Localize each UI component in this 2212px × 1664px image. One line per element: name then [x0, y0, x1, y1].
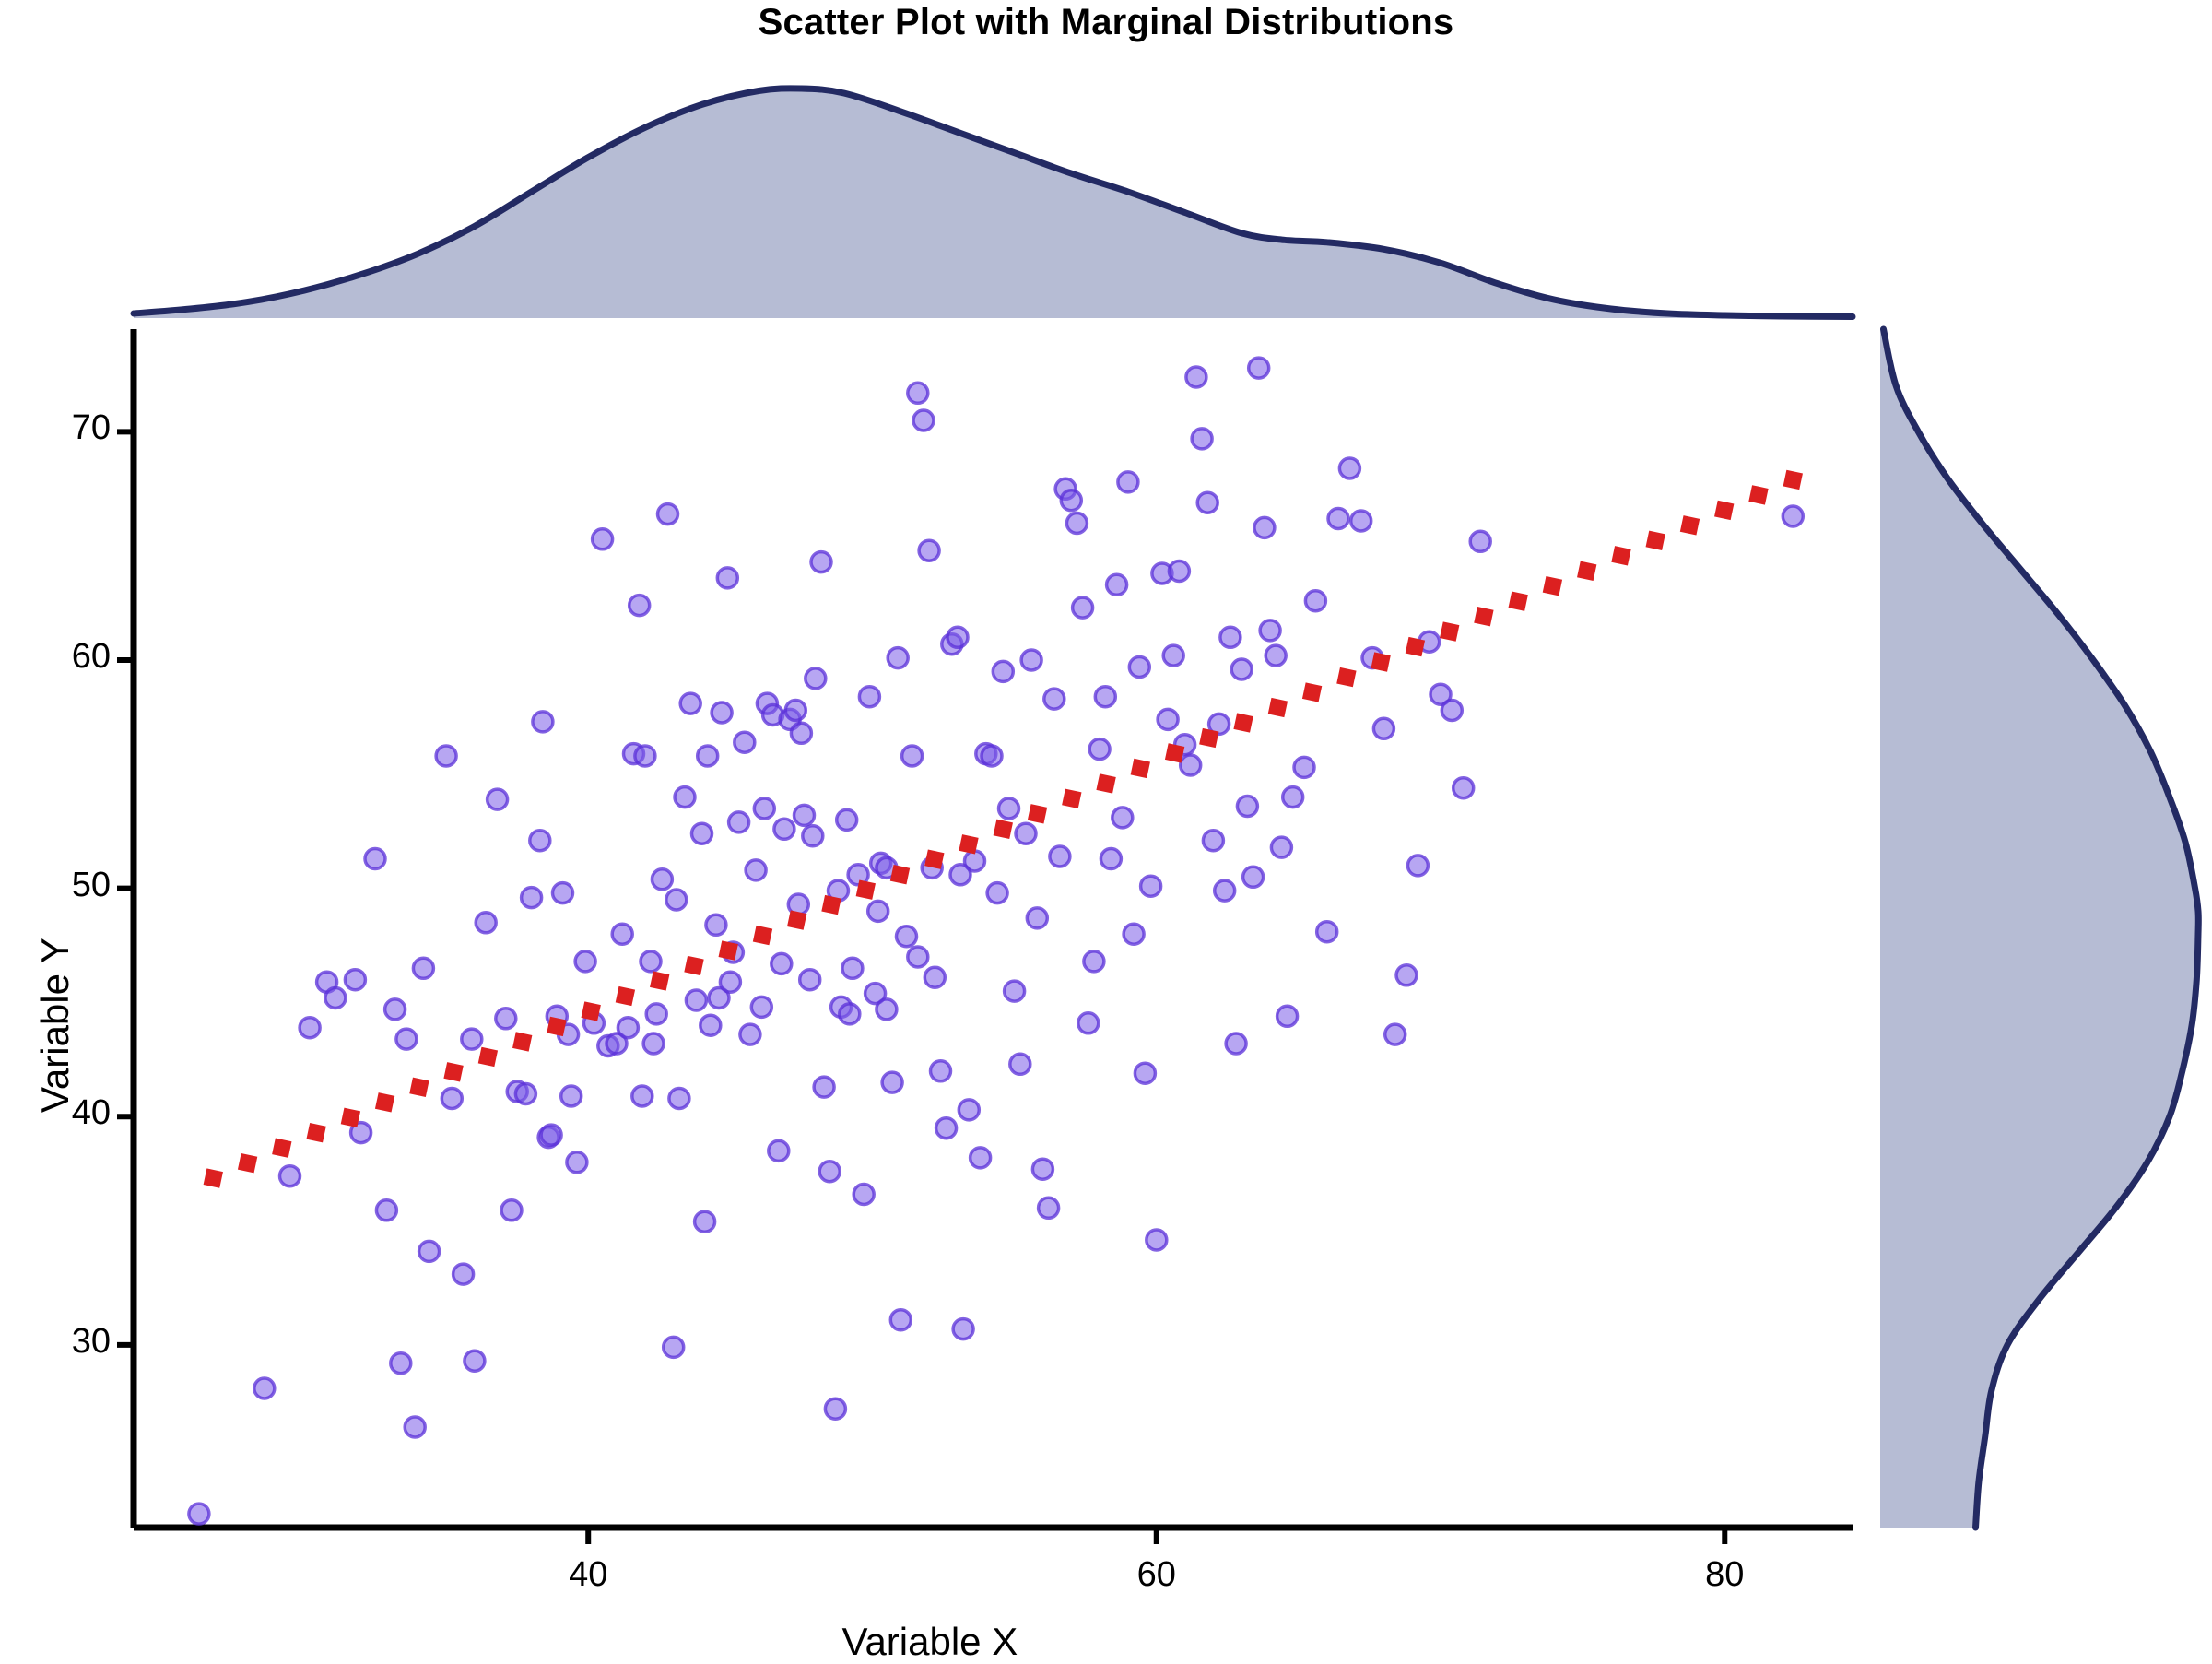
scatter-point [680, 693, 700, 714]
scatter-point [1129, 657, 1149, 678]
trend-line-dot [821, 895, 841, 915]
scatter-point [669, 1089, 689, 1109]
trend-line-dot [1406, 637, 1425, 656]
trend-line-dot [1748, 485, 1768, 504]
scatter-point [462, 1029, 482, 1049]
scatter-point [1260, 620, 1280, 641]
top-marginal-density [134, 89, 1853, 318]
scatter-point [771, 953, 792, 974]
trend-line-dot [1783, 470, 1803, 490]
scatter-point [1181, 755, 1201, 775]
scatter-point [1243, 867, 1264, 887]
scatter-point [641, 951, 661, 972]
trend-line-dot [1680, 515, 1700, 535]
scatter-point [754, 798, 774, 819]
scatter-point [735, 732, 755, 752]
scatter-point [1118, 472, 1138, 492]
scatter-point [1112, 808, 1133, 828]
scatter-point [1163, 645, 1183, 666]
trend-line [204, 470, 1803, 1188]
scatter-point [612, 924, 632, 944]
scatter-point [553, 883, 573, 903]
scatter-point [1197, 492, 1218, 513]
scatter-point [1265, 645, 1286, 666]
scatter-point [541, 1125, 561, 1145]
scatter-point [751, 997, 771, 1017]
trend-line-dot [753, 926, 772, 945]
trend-line-dot [512, 1032, 532, 1051]
scatter-point [1470, 531, 1490, 551]
scatter-point [729, 812, 749, 832]
scatter-point [993, 661, 1013, 681]
scatter-point [1016, 823, 1036, 844]
trend-line-dot [582, 1001, 601, 1021]
scatter-point [1100, 849, 1121, 869]
trend-line-dot [1268, 698, 1288, 717]
scatter-point [1061, 490, 1081, 511]
trend-line-dot [684, 956, 703, 975]
scatter-point [947, 627, 968, 647]
scatter-point [811, 552, 831, 572]
trend-line-dot [306, 1123, 325, 1142]
scatter-point [987, 883, 1007, 903]
scatter-point [635, 746, 655, 766]
scatter-point [1317, 922, 1337, 942]
scatter-point [890, 1310, 911, 1330]
scatter-point [533, 712, 553, 732]
scatter-point [814, 1077, 834, 1097]
scatter-point [1027, 908, 1047, 928]
scatter-point [1078, 1013, 1099, 1033]
trend-line-dot [1096, 773, 1115, 793]
trend-line-dot [719, 940, 738, 960]
scatter-point [658, 504, 678, 525]
scatter-point [189, 1504, 209, 1524]
scatter-point [695, 1211, 715, 1232]
scatter-point [1231, 659, 1252, 679]
scatter-point [675, 787, 695, 808]
trend-line-dot [650, 971, 669, 990]
scatter-point [522, 888, 542, 908]
scatter-point [515, 1084, 535, 1104]
scatter-point [300, 1018, 320, 1038]
scatter-point [1351, 511, 1371, 531]
trend-line-dot [890, 865, 910, 884]
scatter-point [618, 1018, 638, 1038]
trend-line-dot [409, 1078, 429, 1097]
x-tick-label-40: 40 [551, 1555, 625, 1595]
scatter-point [629, 596, 650, 616]
scatter-point [1089, 739, 1110, 760]
scatter-point [1010, 1054, 1030, 1074]
scatter-point [465, 1351, 485, 1371]
scatter-point [1339, 458, 1359, 478]
scatter-point [436, 746, 456, 766]
trend-line-dot [204, 1168, 223, 1187]
scatter-point [692, 823, 712, 844]
scatter-point [842, 958, 863, 978]
scatter-point [1407, 856, 1428, 876]
scatter-point [785, 701, 806, 721]
scatter-point [774, 819, 794, 839]
scatter-point [882, 1072, 902, 1092]
scatter-point [1107, 574, 1127, 595]
scatter-point [1385, 1024, 1406, 1044]
scatter-point [1158, 709, 1178, 729]
scatter-point [488, 789, 508, 809]
trend-line-dot [1543, 576, 1562, 596]
scatter-point [1084, 951, 1104, 972]
trend-line-dot [1165, 743, 1184, 762]
scatter-point [1032, 1159, 1053, 1179]
scatter-point [1039, 1198, 1059, 1218]
scatter-point [819, 1162, 840, 1182]
trend-line-dot [1440, 621, 1459, 641]
scatter-point [924, 967, 945, 987]
scatter-point [971, 1148, 991, 1168]
scatter-point [717, 568, 737, 588]
scatter-point [1277, 1006, 1298, 1026]
trend-line-dot [1131, 759, 1150, 778]
scatter-point [686, 990, 706, 1010]
trend-line-dot [272, 1139, 291, 1158]
scatter-point [652, 869, 672, 890]
scatter-point [800, 970, 820, 990]
scatter-point [1373, 718, 1394, 738]
trend-line-dot [924, 850, 944, 869]
x-tick-label-80: 80 [1688, 1555, 1761, 1595]
scatter-point [413, 958, 433, 978]
y-tick-label-70: 70 [57, 408, 111, 448]
scatter-point [1305, 591, 1325, 611]
scatter-point [561, 1086, 582, 1106]
scatter-point [1186, 367, 1206, 387]
trend-line-dot [1062, 789, 1081, 808]
trend-line-dot [856, 880, 876, 900]
scatter-point [365, 849, 385, 869]
trend-line-dot [1714, 501, 1734, 520]
scatter-point [501, 1200, 522, 1221]
scatter-point [1294, 757, 1314, 777]
trend-line-dot [375, 1092, 394, 1112]
trend-line-dot [994, 820, 1013, 839]
scatter-point [419, 1241, 440, 1261]
scatter-point [897, 926, 917, 947]
scatter-point [646, 1004, 666, 1024]
scatter-point [1005, 981, 1025, 1001]
scatter-point [1203, 831, 1223, 851]
scatter-point [1237, 797, 1257, 817]
scatter-point [1044, 689, 1065, 709]
scatter-point [1192, 429, 1212, 449]
scatter-point [632, 1086, 653, 1106]
scatter-point [1453, 778, 1474, 798]
y-tick-label-50: 50 [57, 866, 111, 905]
trend-line-dot [1371, 652, 1390, 671]
scatter-point [853, 1185, 874, 1205]
trend-line-dot [238, 1153, 257, 1173]
scatter-point [1220, 627, 1241, 647]
scatter-point [840, 1004, 860, 1024]
scatter-point [936, 1118, 957, 1139]
trend-line-dot [1611, 546, 1630, 565]
plot-canvas [0, 0, 2212, 1659]
scatter-point [825, 1398, 845, 1419]
trend-line-dot [443, 1062, 463, 1081]
scatter-point [902, 746, 923, 766]
trend-line-dot [1028, 804, 1047, 823]
y-tick-label-30: 30 [57, 1322, 111, 1362]
scatter-point [877, 999, 897, 1020]
scatter-point [953, 1319, 973, 1339]
scatter-point [567, 1152, 587, 1173]
scatter-point [1396, 965, 1417, 985]
scatter-point [405, 1417, 425, 1437]
scatter-point [712, 702, 732, 723]
scatter-point [806, 668, 826, 689]
trend-line-dot [1302, 682, 1322, 702]
trend-line-dot [1336, 667, 1356, 687]
y-tick-label-60: 60 [57, 637, 111, 677]
scatter-point [530, 831, 550, 851]
scatter-point [1254, 517, 1275, 537]
trend-line-dot [1474, 607, 1493, 626]
scatter-point [908, 383, 928, 403]
trend-line-dot [616, 986, 635, 1006]
top-density-fill [134, 89, 1853, 318]
scatter-point [1066, 513, 1087, 534]
scatter-point [1215, 880, 1235, 901]
scatter-point [919, 540, 939, 561]
scatter-point [441, 1089, 462, 1109]
scatter-point [1249, 358, 1269, 378]
scatter-point [720, 972, 740, 992]
scatter-point [868, 901, 888, 921]
scatter-point [803, 826, 823, 846]
scatter-point [700, 1015, 721, 1035]
x-axis-label: Variable X [842, 1620, 1018, 1664]
scatter-point [931, 1061, 951, 1081]
scatter-point [325, 988, 346, 1009]
trend-line-dot [1509, 592, 1528, 611]
scatter-point [643, 1033, 664, 1054]
scatter-point [1226, 1033, 1246, 1054]
scatter-point [746, 860, 766, 880]
scatter-point [1271, 837, 1291, 857]
trend-line-dot [1199, 728, 1218, 748]
scatter-point [376, 1200, 396, 1221]
scatter-point [593, 529, 613, 549]
trend-line-dot [341, 1108, 360, 1127]
scatter-point [791, 723, 811, 743]
scatter-point [666, 890, 687, 910]
scatter-point [345, 970, 365, 990]
scatter-point [913, 410, 934, 431]
scatter-point [664, 1337, 684, 1357]
scatter-point [575, 951, 595, 972]
scatter-point [1283, 787, 1303, 808]
trend-line-dot [547, 1017, 566, 1036]
scatter-point [453, 1264, 474, 1284]
scatter-point [1783, 506, 1803, 526]
scatter-point [1135, 1063, 1155, 1083]
scatter-point [982, 746, 1002, 766]
scatter-point [950, 865, 971, 885]
scatter-point [1441, 701, 1462, 721]
scatter-point [999, 798, 1019, 819]
scatter-point [1050, 846, 1070, 867]
right-density-fill [1880, 329, 2198, 1528]
scatter-point [1073, 597, 1093, 618]
scatter-point [1095, 687, 1115, 707]
trend-line-dot [1233, 713, 1253, 732]
scatter-point [385, 999, 406, 1020]
scatter-point [1021, 650, 1041, 670]
scatter-point [859, 687, 879, 707]
scatter-plot-figure: Scatter Plot with Marginal Distributions… [0, 0, 2212, 1659]
scatter-point [1141, 876, 1161, 896]
scatter-point [837, 809, 857, 830]
scatter-point [888, 648, 908, 668]
scatter-point [1328, 509, 1348, 529]
scatter-point [280, 1166, 300, 1186]
scatter-point [706, 915, 726, 935]
scatter-point [1147, 1230, 1167, 1250]
trend-line-dot [1646, 531, 1665, 550]
scatter-point [496, 1009, 516, 1029]
y-axis-label: Variable Y [33, 938, 77, 1113]
scatter-points [189, 358, 1803, 1524]
right-marginal-density [1880, 329, 2198, 1528]
scatter-point [794, 805, 815, 825]
trend-line-dot [478, 1047, 498, 1067]
trend-line-dot [787, 910, 806, 929]
scatter-point [391, 1353, 411, 1374]
trend-line-dot [1577, 561, 1596, 581]
scatter-point [396, 1029, 417, 1049]
x-tick-label-60: 60 [1120, 1555, 1194, 1595]
scatter-point [698, 746, 718, 766]
scatter-point [908, 947, 928, 967]
trend-line-dot [959, 834, 978, 854]
scatter-point [1169, 561, 1189, 582]
scatter-point [476, 913, 496, 933]
plot-axes [117, 329, 1853, 1544]
scatter-point [740, 1024, 760, 1044]
scatter-point [769, 1140, 789, 1161]
scatter-point [959, 1100, 979, 1120]
scatter-point [254, 1378, 275, 1398]
scatter-point [1124, 924, 1144, 944]
